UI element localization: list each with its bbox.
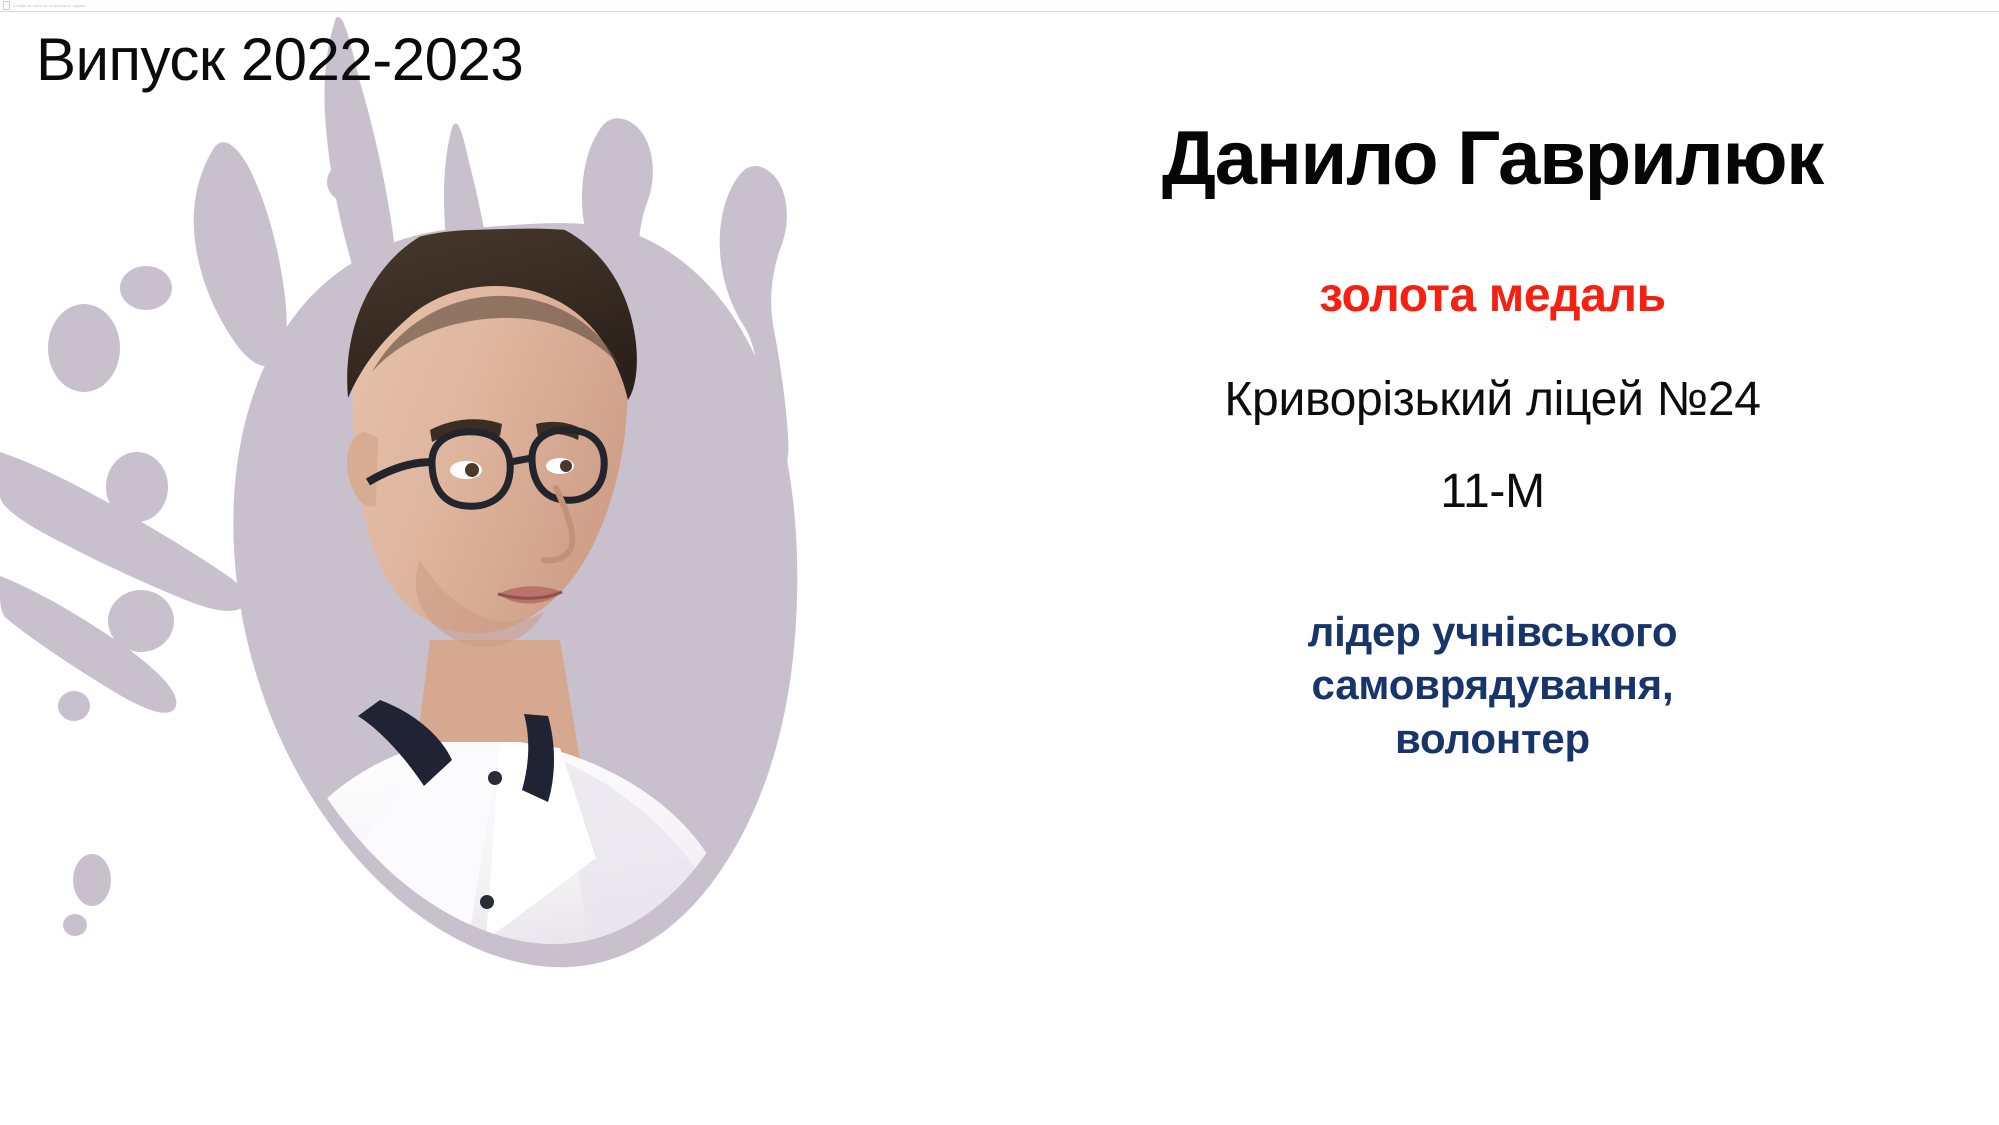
role-line: волонтер: [1005, 712, 1980, 766]
role-line: лідер учнівського: [1005, 605, 1980, 659]
student-info-panel: Данило Гаврилюк золота медаль Криворізьк…: [1005, 120, 1980, 766]
watermark-label: Слайд на заняття та виховної години: [13, 2, 86, 9]
school-name: Криворізький ліцей №24: [1005, 372, 1980, 427]
document-icon: [3, 1, 10, 10]
award-badge: золота медаль: [1005, 270, 1980, 323]
role-line: самоврядування,: [1005, 658, 1980, 712]
class-label: 11-М: [1005, 464, 1980, 519]
page-title: Випуск 2022-2023: [36, 28, 523, 91]
portrait-artwork: [0, 0, 960, 1125]
top-chrome-bar: [0, 0, 1999, 12]
student-name: Данило Гаврилюк: [1005, 120, 1980, 198]
watermark: Слайд на заняття та виховної години: [3, 1, 86, 10]
graduation-slide: Слайд на заняття та виховної години: [0, 0, 1999, 1125]
student-role: лідер учнівського самоврядування, волонт…: [1005, 605, 1980, 766]
